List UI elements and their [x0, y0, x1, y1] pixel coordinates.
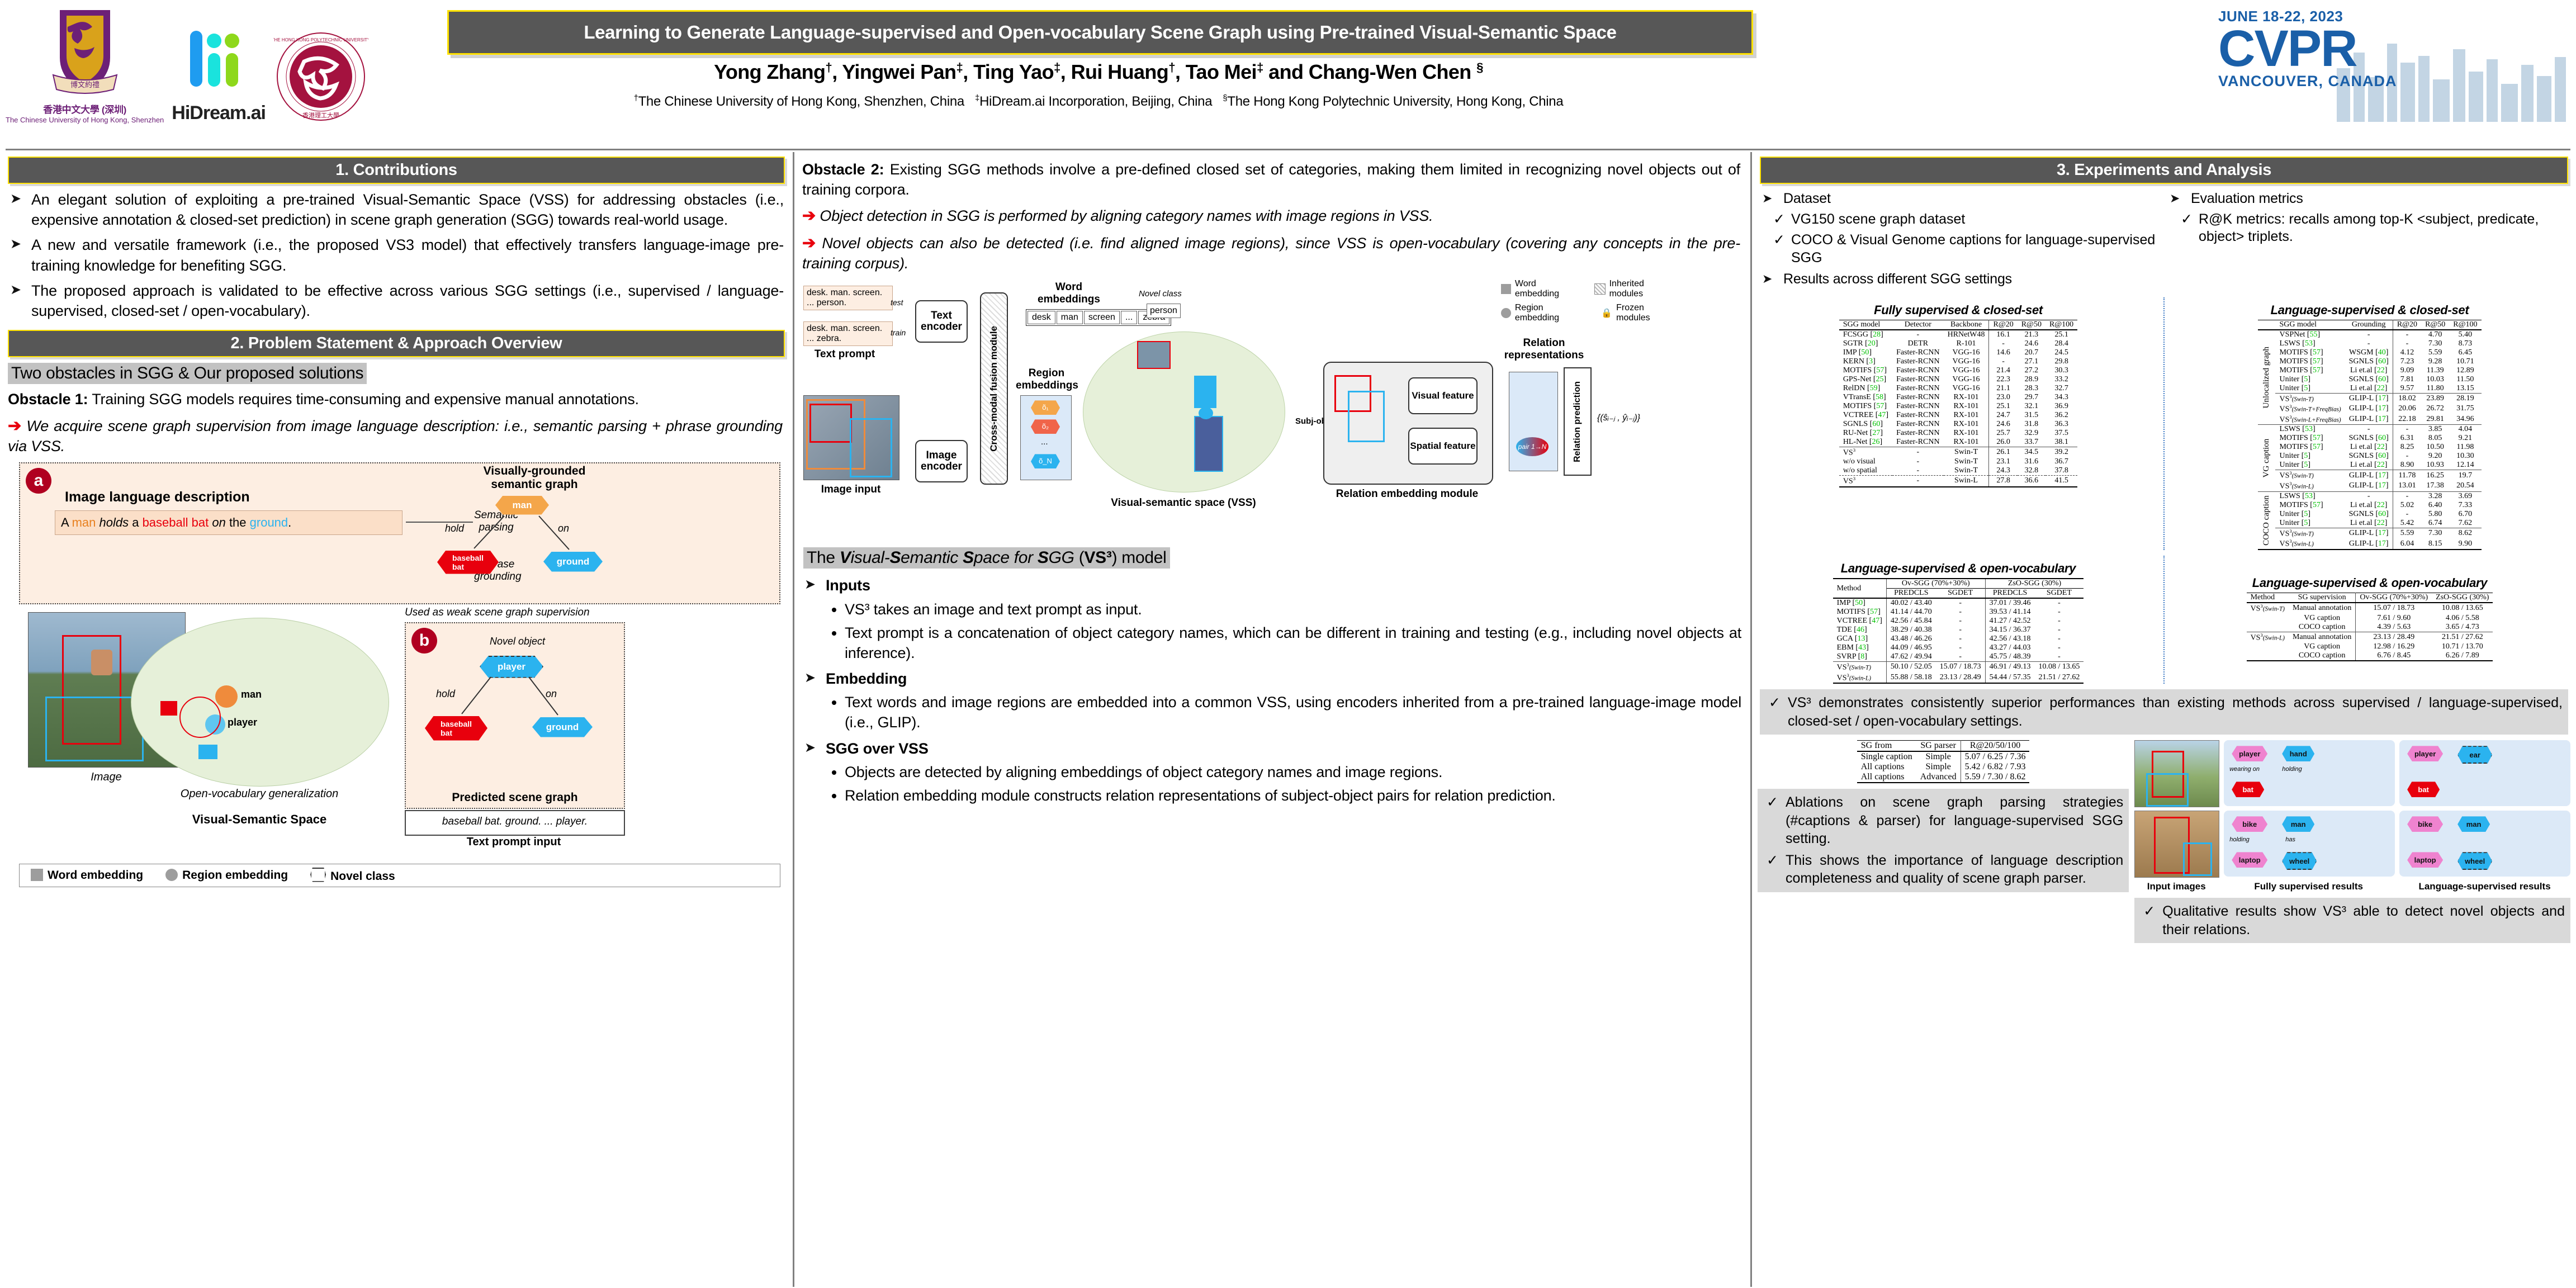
table-cell: Swin-T — [1944, 447, 1989, 457]
square-icon — [31, 869, 43, 881]
table-cell: Li et.al [22] — [2345, 366, 2393, 375]
table-row: SGTR [20]DETRR-101-24.628.4 — [1839, 339, 2077, 348]
table-title: Language-supervised & closed-set — [2169, 303, 2570, 318]
table-cell: 27.8 — [1989, 476, 2018, 487]
table-cell: MOTIFS [57] — [1833, 608, 1887, 617]
note-superior-performance: VS³ demonstrates consistently superior p… — [1760, 689, 2568, 735]
table-openvocab-ablation-wrap: Language-supervised & open-vocabulary Me… — [2163, 556, 2570, 684]
table-cell: 43.27 / 44.03 — [1985, 643, 2034, 652]
table-row: Uniter [5]SGNLS [60]7.8110.0311.50 — [2258, 375, 2481, 384]
table-cell: 5.42 / 6.82 / 7.93 — [1961, 762, 2029, 772]
table-cell: RX-101 — [1944, 411, 1989, 420]
table-cell: 25.1 — [2045, 330, 2077, 339]
column-middle: Obstacle 2: Existing SGG methods involve… — [793, 152, 1752, 1287]
col-header: SGG model — [1839, 320, 1892, 330]
table-cell: VS3(Swin-T) — [2275, 393, 2345, 404]
table-cell: VGG-16 — [1944, 375, 1989, 384]
table-cell: IMP [50] — [1839, 348, 1892, 357]
cross-modal-fusion-module: Cross-modal fusion module — [980, 292, 1008, 485]
table-cell: 55.88 / 58.18 — [1886, 673, 1935, 684]
page-title: Learning to Generate Language-supervised… — [584, 22, 1616, 43]
table-cell: GPS-Net [25] — [1839, 375, 1892, 384]
table-cell: Manual annotation — [2289, 632, 2356, 642]
table-cell: 37.5 — [2045, 429, 2077, 438]
table-cell: 8.05 — [2421, 434, 2449, 443]
figure-a-semantic-graph: Visually-groundedsemantic graph man base… — [411, 467, 652, 601]
text-prompt-input-box: baseball bat. ground. ... player. — [405, 810, 625, 836]
table-cell: - — [2345, 330, 2393, 339]
table-cell: 10.71 / 13.70 — [2432, 642, 2493, 651]
table-cell: - — [2393, 339, 2421, 348]
qual-language-supervised-panel: player ear bat — [2399, 740, 2570, 806]
tables-row-2: Language-supervised & open-vocabulary Me… — [1758, 556, 2570, 684]
table-cell: Uniter [5] — [2275, 452, 2345, 461]
table-row: VG caption7.61 / 9.604.06 / 5.58 — [2247, 614, 2493, 623]
hk-polyu-logo: THE HONG KONG POLYTECHNIC UNIVERSITY 香港理… — [273, 29, 368, 124]
col-header: Method — [1833, 579, 1887, 598]
table-cell: 36.6 — [2018, 476, 2045, 487]
section-sgg-over-vss: SGG over VSS Objects are detected by ali… — [802, 738, 1741, 806]
table-cell: RelDN [59] — [1839, 384, 1892, 393]
solution-2b-paragraph: ➔ Novel objects can also be detected (i.… — [802, 233, 1740, 274]
table-cell: 23.13 / 28.49 — [1936, 673, 1985, 684]
col-header: Grounding — [2345, 320, 2393, 330]
table-cell: 36.7 — [2045, 457, 2077, 466]
table-cell: 8.73 — [2449, 339, 2481, 348]
table-cell: GLIP-L [17] — [2345, 481, 2393, 491]
table-cell: 31.8 — [2018, 420, 2045, 429]
list-item: VG150 scene graph dataset — [1769, 211, 2161, 229]
qual-col-label: Fully supervised results — [2223, 881, 2394, 892]
table-cell: Faster-RCNN — [1892, 348, 1944, 357]
node-player: player — [2407, 746, 2443, 761]
experiments-heading: 3. Experiments and Analysis — [1761, 161, 2567, 179]
table-row: w/o visual-Swin-T23.131.636.7 — [1839, 457, 2077, 466]
hidream-mark-icon — [177, 18, 261, 102]
solution-2a-paragraph: ➔ Object detection in SGG is performed b… — [802, 205, 1740, 226]
table-cell: VS3 — [1839, 476, 1892, 487]
obstacle-2-paragraph: Obstacle 2: Existing SGG methods involve… — [802, 160, 1740, 200]
table-cell: 22.18 — [2393, 414, 2421, 425]
table-cell: Li et.al [22] — [2345, 384, 2393, 394]
note-item: Ablations on scene graph parsing strateg… — [1763, 793, 2123, 848]
table-cell: VGG-16 — [1944, 366, 1989, 375]
table-cell: RX-101 — [1944, 402, 1989, 411]
table-cell: 13.15 — [2449, 384, 2481, 394]
node-player: player — [2232, 746, 2267, 761]
table-cell: 7.23 — [2393, 357, 2421, 366]
table-cell: 37.8 — [2045, 466, 2077, 476]
col-header: SG supervision — [2289, 593, 2356, 603]
col-header-group: ZsO-SGG (30%) — [1985, 579, 2083, 589]
table-cell: 21.3 — [2018, 330, 2045, 339]
table-cell: 5.59 — [2393, 528, 2421, 538]
contributions-list: An elegant solution of exploiting a pre-… — [8, 190, 784, 321]
table-cell: - — [1989, 339, 2018, 348]
cuhk-shield-icon: 博文約禮 — [43, 4, 127, 100]
table-cell: - — [2035, 617, 2084, 626]
region-embeddings-caption: Region embeddings — [1016, 367, 1077, 392]
node-wheel: wheel — [2457, 852, 2492, 870]
experiments-intro: Dataset VG150 scene graph dataset COCO &… — [1760, 190, 2568, 294]
table-cell: 5.40 — [2449, 330, 2481, 339]
relation-rep-stack: pair 1→N — [1509, 372, 1558, 471]
table-row: COCO caption4.39 / 5.633.65 / 4.73 — [2247, 623, 2493, 632]
bullet: VS³ takes an image and text prompt as in… — [845, 599, 1741, 619]
table-cell: - — [2345, 339, 2393, 348]
metrics-heading: Evaluation metrics — [2167, 190, 2568, 209]
table-lang-supervised-closed: SGG model Grounding R@20 R@50 R@100 Unlo… — [2258, 320, 2481, 551]
problem-heading: 2. Problem Statement & Approach Overview — [9, 334, 784, 353]
output-formula: {(ŝᵢ₋ⱼ , ŷᵢ₋ⱼ)} — [1597, 412, 1640, 423]
legend-novel-class: Novel class — [310, 868, 395, 883]
obstacle-2-label: Obstacle 2: — [802, 161, 884, 178]
table-cell: 7.62 — [2449, 519, 2481, 528]
table-cell: Faster-RCNN — [1892, 411, 1944, 420]
table-row: GCA [13]43.48 / 46.26-42.56 / 43.18- — [1833, 634, 2084, 643]
table-row: EBM [43]44.09 / 46.95-43.27 / 44.03- — [1833, 643, 2084, 652]
table-cell: w/o visual — [1839, 457, 1892, 466]
table-cell: 22.3 — [1989, 375, 2018, 384]
cvpr-location: VANCOUVER, CANADA — [2218, 73, 2572, 90]
obstacle-2-text: Existing SGG methods involve a pre-defin… — [802, 161, 1740, 198]
table-cell: VTransE [58] — [1839, 393, 1892, 402]
col-header: R@50 — [2421, 320, 2449, 330]
table-lang-openvocab-wrap: Language-supervised & open-vocabulary Me… — [1758, 556, 2159, 684]
relation-prediction-box: Relation prediction — [1564, 367, 1592, 476]
table-cell: 6.40 — [2421, 501, 2449, 510]
table-row: All captionsSimple5.42 / 6.82 / 7.93 — [1857, 762, 2030, 772]
red-arrow-icon: ➔ — [802, 234, 816, 252]
table-cell: - — [2035, 643, 2084, 652]
table-cell: - — [2393, 330, 2421, 339]
table-row: Single captionSimple5.07 / 6.25 / 7.36 — [1857, 751, 2030, 762]
table-cell: 11.50 — [2449, 375, 2481, 384]
solution-2a-text: Object detection in SGG is performed by … — [820, 207, 1433, 224]
table-cell: 41.27 / 42.52 — [1985, 617, 2034, 626]
table-cell: Simple — [1916, 762, 1961, 772]
table-cell: 36.3 — [2045, 420, 2077, 429]
table-cell: 10.08 / 13.65 — [2035, 662, 2084, 673]
table-cell: 4.12 — [2393, 348, 2421, 357]
table-cell: WSGM [40] — [2345, 348, 2393, 357]
table-row: VCTREE [47]42.56 / 45.84-41.27 / 42.52- — [1833, 617, 2084, 626]
table-cell: SGNLS [60] — [2345, 510, 2393, 519]
figure-b-predicted-graph: b Novel object player baseballbat ground… — [405, 622, 625, 809]
legend-item: Region embedding 🔒Frozen modules — [1501, 303, 1680, 323]
table-cell: 7.61 / 9.60 — [2356, 614, 2432, 623]
table-cell: SGNLS [60] — [2345, 452, 2393, 461]
cuhk-caption-en: The Chinese University of Hong Kong, She… — [6, 116, 164, 124]
table-cell: 5.07 / 6.25 / 7.36 — [1961, 751, 2029, 762]
table-cell: GLIP-L [17] — [2345, 470, 2393, 481]
table-cell: Faster-RCNN — [1892, 384, 1944, 393]
table-cell: TDE [46] — [1833, 626, 1887, 634]
col-header: SGDET — [1936, 589, 1985, 599]
table-cell: 9.21 — [2449, 434, 2481, 443]
cuhk-caption-cn: 香港中文大學 (深圳) — [43, 102, 126, 116]
table-cell: VCTREE [47] — [1833, 617, 1887, 626]
table-row: FCSGG [28]-HRNetW4816.121.325.1 — [1839, 330, 2077, 339]
table-cell: 46.91 / 49.13 — [1985, 662, 2034, 673]
table-cell: 5.59 / 7.30 / 8.62 — [1961, 772, 2029, 783]
table-cell: VS3(Swin-T) — [2275, 528, 2345, 538]
table-cell: 16.1 — [1989, 330, 2018, 339]
table-cell: SGNLS [60] — [2345, 357, 2393, 366]
table-cell: 29.8 — [2045, 357, 2077, 366]
table-cell: VS3(Swin-L+FreqBias) — [2275, 414, 2345, 425]
table-cell: 8.90 — [2393, 461, 2421, 470]
table-cell: 8.62 — [2449, 528, 2481, 538]
table-cell: 5.59 — [2421, 348, 2449, 357]
table-cell: - — [1892, 476, 1944, 487]
table-cell: 41.14 / 44.70 — [1886, 608, 1935, 617]
table-cell: 21.4 — [1989, 366, 2018, 375]
table-cell: 23.13 / 28.49 — [2356, 632, 2432, 642]
vs3-model-banner: The Visual-Semantic Space for SGG (VS³) … — [803, 547, 1170, 569]
qual-fully-supervised-panel: player hand bat wearing on holding — [2224, 740, 2395, 806]
relation-embedding-module: Visual feature Spatial feature — [1323, 362, 1493, 485]
table-cell: 4.06 / 5.58 — [2432, 614, 2493, 623]
table-cell: 28.9 — [2018, 375, 2045, 384]
table-row: All captionsAdvanced5.59 / 7.30 / 8.62 — [1857, 772, 2030, 783]
table-cell: 7.33 — [2449, 501, 2481, 510]
table-cell: 27.2 — [2018, 366, 2045, 375]
table-row: VS3(Swin-L+FreqBias)GLIP-L [17]22.1829.8… — [2258, 414, 2481, 425]
table-cell: 5.80 — [2421, 510, 2449, 519]
table-cell: Li et.al [22] — [2345, 461, 2393, 470]
table-cell: SGNLS [60] — [1839, 420, 1892, 429]
table-cell: 6.04 — [2393, 538, 2421, 550]
svg-text:博文約禮: 博文約禮 — [70, 80, 100, 89]
figure-a-title: Image language description — [65, 489, 250, 505]
hidream-wordmark: HiDream.ai — [172, 102, 266, 124]
table-cell: 23.0 — [1989, 393, 2018, 402]
table-cell: Faster-RCNN — [1892, 438, 1944, 447]
table-cell: 34.15 / 36.37 — [1985, 626, 2034, 634]
table-cell: Swin-T — [1944, 466, 1989, 476]
bullet: Text prompt is a concatenation of object… — [845, 623, 1741, 663]
table-cell: 24.3 — [1989, 466, 2018, 476]
table-cell: VS3(Swin-T+FreqBias) — [2275, 404, 2345, 414]
table-cell: Manual annotation — [2289, 603, 2356, 614]
table-cell: - — [1892, 457, 1944, 466]
edge-has: has — [2285, 836, 2295, 843]
graph-edges-svg — [411, 467, 652, 601]
vss-ellipse-pipeline — [1083, 332, 1285, 493]
table-cell: VGG-16 — [1944, 384, 1989, 393]
figure-badge-a: a — [26, 468, 51, 494]
bottom-row: SG from SG parser R@20/50/100 Single cap… — [1758, 740, 2570, 943]
table-cell: 36.9 — [2045, 402, 2077, 411]
col-header: R@100 — [2449, 320, 2481, 330]
table-cell: VSPNet [55] — [2275, 330, 2345, 339]
cvpr-badge: JUNE 18-22, 2023 CVPR VANCOUVER, CANADA — [2214, 8, 2572, 125]
table-cell: 54.44 / 57.35 — [1985, 673, 2034, 684]
prompt-text: baseball bat. ground. ... player. — [406, 811, 624, 828]
table-row: MOTIFS [57]Faster-RCNNVGG-1621.427.230.3 — [1839, 366, 2077, 375]
table-cell: 6.26 / 7.89 — [2432, 651, 2493, 661]
train-label: train — [891, 328, 906, 337]
author-list: Yong Zhang†, Yingwei Pan‡, Ting Yao‡, Ru… — [447, 60, 1750, 84]
table-cell — [2247, 642, 2289, 651]
table-cell: VG caption — [2289, 642, 2356, 651]
table-cell — [2247, 623, 2289, 632]
node-ear: ear — [2457, 746, 2492, 764]
table-cell: LSWS [53] — [2275, 339, 2345, 348]
table-cell: 13.01 — [2393, 481, 2421, 491]
table-row: VG caption12.98 / 16.2910.71 / 13.70 — [2247, 642, 2493, 651]
table-cell: 29.7 — [2018, 393, 2045, 402]
col-header: SGG model — [2275, 320, 2345, 330]
table-cell: 32.9 — [2018, 429, 2045, 438]
table-fully-supervised: SGG model Detector Backbone R@20 R@50 R@… — [1839, 320, 2077, 487]
table-cell: Faster-RCNN — [1892, 429, 1944, 438]
table-cell: 9.09 — [2393, 366, 2421, 375]
relation-embedding-caption: Relation embedding module — [1323, 488, 1491, 500]
obstacle-1-text: Training SGG models requires time-consum… — [88, 391, 638, 408]
table-cell: Li et.al [22] — [2345, 519, 2393, 528]
col-header: Detector — [1892, 320, 1944, 330]
col-header: R@20 — [2393, 320, 2421, 330]
solution-1-text: We acquire scene graph supervision from … — [8, 418, 783, 454]
table-row: MOTIFS [57]41.14 / 44.70-39.53 / 41.14- — [1833, 608, 2084, 617]
region-embeddings-stack: õ₁ õ₂ ... õ_N — [1020, 395, 1072, 480]
row-group-label: COCO caption — [2258, 491, 2275, 550]
table-cell: 26.0 — [1989, 438, 2018, 447]
table-cell: 9.28 — [2421, 357, 2449, 366]
table-row: LSWS [53]--7.308.73 — [2258, 339, 2481, 348]
table-cell: 25.1 — [1989, 402, 2018, 411]
table-cell: 24.6 — [2018, 339, 2045, 348]
dataset-list: VG150 scene graph dataset COCO & Visual … — [1769, 211, 2161, 267]
table-row: VS3(Swin-T+FreqBias)GLIP-L [17]20.0626.7… — [2258, 404, 2481, 414]
table-cell: - — [2035, 608, 2084, 617]
table-cell: GLIP-L [17] — [2345, 404, 2393, 414]
node-man: man — [2282, 816, 2314, 832]
bullet: Text words and image regions are embedde… — [845, 692, 1741, 732]
vs3-sections: Inputs VS³ takes an image and text promp… — [802, 575, 1741, 806]
table-row: VS3(Swin-T)50.10 / 52.0515.07 / 18.7346.… — [1833, 662, 2084, 673]
table-cell — [2247, 614, 2289, 623]
table-cell: 45.75 / 48.39 — [1985, 652, 2034, 662]
word-embeddings-caption: Word embeddings — [1027, 281, 1111, 306]
sgg-vss-heading: SGG over VSS — [826, 740, 929, 757]
table-cell: All captions — [1857, 762, 1916, 772]
table-cell: 31.6 — [2018, 457, 2045, 466]
figure-legend: Word embedding Region embedding Novel cl… — [19, 864, 780, 887]
col-header: SGDET — [2035, 589, 2084, 599]
table-row: IMP [50]Faster-RCNNVGG-1614.620.724.5 — [1839, 348, 2077, 357]
dataset-block: Dataset VG150 scene graph dataset COCO &… — [1760, 190, 2161, 294]
table-cell: SGNLS [60] — [2345, 375, 2393, 384]
contributions-heading: 1. Contributions — [9, 161, 784, 179]
dataset-heading: Dataset — [1760, 190, 2161, 209]
table-cell: 5.02 — [2393, 501, 2421, 510]
table-cell: 6.76 / 8.45 — [2356, 651, 2432, 661]
col-header: R@20/50/100 — [1961, 741, 2029, 752]
table-cell: 41.5 — [2045, 476, 2077, 487]
table-cell: SGNLS [60] — [2345, 434, 2393, 443]
prompt-box-test: desk. man. screen. ... person. — [803, 286, 893, 310]
table-row: COCO captionLSWS [53]--3.283.69 — [2258, 491, 2481, 501]
table-cell: VS3(Swin-L) — [2247, 632, 2289, 642]
table-cell: 4.70 — [2421, 330, 2449, 339]
table-cell: Faster-RCNN — [1892, 402, 1944, 411]
table-cell: VCTREE [47] — [1839, 411, 1892, 420]
table-cell: Simple — [1916, 751, 1961, 762]
col-header: Backbone — [1944, 320, 1989, 330]
table-cell: - — [2393, 425, 2421, 434]
table-cell: VS3(Swin-L) — [2275, 538, 2345, 550]
table-cell: COCO caption — [2289, 651, 2356, 661]
table-cell: Li et.al [22] — [2345, 501, 2393, 510]
section-header-contributions: 1. Contributions — [8, 157, 785, 184]
table-cell: 23.1 — [1989, 457, 2018, 466]
graph-b-edges-svg — [406, 623, 624, 808]
circle-icon — [165, 869, 178, 881]
table-cell: 33.7 — [2018, 438, 2045, 447]
table-row: KERN [3]Faster-RCNNVGG-16-27.129.8 — [1839, 357, 2077, 366]
section-header-problem: 2. Problem Statement & Approach Overview — [8, 330, 785, 357]
table-cell: 10.50 — [2421, 443, 2449, 452]
legend-region-embedding: Region embedding — [165, 869, 288, 882]
table-cell: Faster-RCNN — [1892, 375, 1944, 384]
table-cell: - — [2393, 491, 2421, 501]
table-cell: 20.7 — [2018, 348, 2045, 357]
note-item: Qualitative results show VS³ able to det… — [2140, 902, 2565, 939]
table-cell: GLIP-L [17] — [2345, 414, 2393, 425]
word-cell: screen — [1084, 311, 1120, 324]
table-row: Unlocalized graphVSPNet [55]--4.705.40 — [2258, 330, 2481, 339]
cvpr-wordmark: CVPR — [2218, 25, 2572, 73]
table-sg-parser: SG from SG parser R@20/50/100 Single cap… — [1857, 740, 2030, 783]
table-row: VS3-Swin-L27.836.641.5 — [1839, 476, 2077, 487]
table-cell: GLIP-L [17] — [2345, 393, 2393, 404]
gray-circle-icon — [1501, 308, 1511, 318]
col-header: Method — [2247, 593, 2289, 603]
polyu-seal-icon: THE HONG KONG POLYTECHNIC UNIVERSITY 香港理… — [273, 29, 368, 124]
table-row: RU-Net [27]Faster-RCNNRX-10125.732.937.5 — [1839, 429, 2077, 438]
col-header: PREDCLS — [1985, 589, 2034, 599]
table-cell: 11.78 — [2393, 470, 2421, 481]
novel-class-word: person — [1147, 304, 1181, 318]
node-wheel: wheel — [2282, 852, 2317, 870]
table-cell: 30.3 — [2045, 366, 2077, 375]
table-row: MOTIFS [57]SGNLS [60]6.318.059.21 — [2258, 434, 2481, 443]
table-cell: 21.51 / 27.62 — [2432, 632, 2493, 642]
column-right: 3. Experiments and Analysis Dataset VG15… — [1752, 152, 2576, 1287]
table-cell: 50.10 / 52.05 — [1886, 662, 1935, 673]
table-row: Uniter [5]SGNLS [60]-9.2010.30 — [2258, 452, 2481, 461]
table-cell: 32.7 — [2045, 384, 2077, 393]
pipeline-legend: Word embedding Inherited modules Region … — [1501, 279, 1680, 327]
table-cell: Uniter [5] — [2275, 384, 2345, 394]
tables-row-1: Fully supervised & closed-set SGG model … — [1758, 297, 2570, 551]
lock-icon: 🔒 — [1601, 307, 1612, 319]
table-cell: 27.1 — [2018, 357, 2045, 366]
table-cell: 19.7 — [2449, 470, 2481, 481]
table-cell: 24.7 — [1989, 411, 2018, 420]
table-row: MOTIFS [57]Li et.al [22]5.026.407.33 — [2258, 501, 2481, 510]
figure-pipeline: desk. man. screen. ... person. desk. man… — [803, 278, 1741, 541]
table-cell: 5.42 — [2393, 519, 2421, 528]
table-cell: 38.1 — [2045, 438, 2077, 447]
table-cell: 10.30 — [2449, 452, 2481, 461]
table-title: Language-supervised & open-vocabulary — [1758, 561, 2159, 576]
table-cell: 42.56 / 45.84 — [1886, 617, 1935, 626]
table-cell: 31.5 — [2018, 411, 2045, 420]
